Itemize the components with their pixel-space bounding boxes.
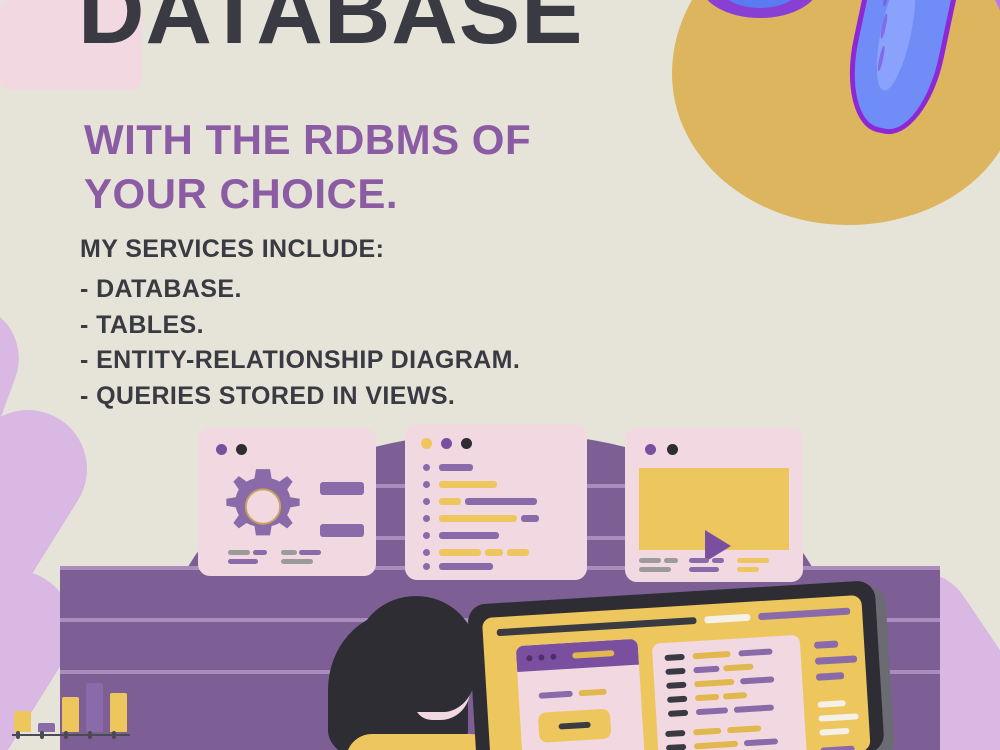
form-label bbox=[539, 691, 573, 699]
line-number bbox=[668, 710, 688, 717]
side-list-item bbox=[818, 713, 858, 721]
line-number bbox=[666, 744, 686, 750]
axis-tick bbox=[88, 731, 92, 739]
line-number bbox=[667, 696, 687, 703]
services-list: - DATABASE. - TABLES. - ENTITY-RELATIONS… bbox=[80, 272, 520, 414]
code-token bbox=[692, 651, 730, 659]
laptop-screen[interactable] bbox=[482, 595, 871, 750]
footer-line bbox=[639, 558, 661, 563]
window-dot-dark bbox=[667, 444, 678, 455]
axis-tick bbox=[40, 731, 44, 739]
leg-crease bbox=[882, 0, 891, 7]
code-line bbox=[521, 515, 539, 522]
leg-crease bbox=[879, 13, 888, 39]
form-label bbox=[578, 689, 606, 697]
video-window-card[interactable] bbox=[625, 428, 803, 582]
code-panel[interactable] bbox=[652, 635, 807, 750]
side-list-item bbox=[820, 746, 854, 750]
chart-bar bbox=[110, 693, 127, 732]
toolbar-line bbox=[704, 614, 750, 624]
code-window-card[interactable] bbox=[405, 424, 587, 580]
list-item: - DATABASE. bbox=[80, 272, 520, 308]
settings-window-card[interactable] bbox=[198, 428, 376, 576]
submit-button[interactable] bbox=[538, 708, 612, 742]
submit-button-label bbox=[558, 722, 590, 730]
page-subtitle: WITH THE RDBMS OF YOUR CHOICE. bbox=[84, 113, 531, 221]
window-dot-dark bbox=[236, 444, 247, 455]
code-token bbox=[738, 648, 772, 656]
purple-cape-shape bbox=[779, 0, 1000, 64]
chart-bar bbox=[86, 683, 103, 732]
toolbar-line bbox=[497, 617, 697, 636]
gear-icon bbox=[224, 466, 302, 544]
list-item: - TABLES. bbox=[80, 308, 520, 344]
services-heading: MY SERVICES INCLUDE: bbox=[80, 235, 384, 264]
list-item: - ENTITY-RELATIONSHIP DIAGRAM. bbox=[80, 343, 520, 379]
blue-leg-shape bbox=[836, 0, 967, 142]
window-dot-purple bbox=[441, 438, 452, 449]
gold-blob-shape bbox=[672, 0, 1000, 225]
code-token bbox=[695, 694, 719, 701]
code-token bbox=[744, 738, 778, 746]
axis-tick bbox=[112, 731, 116, 739]
blue-dot-shape bbox=[718, 0, 802, 8]
code-line bbox=[507, 549, 529, 556]
footer-line bbox=[299, 550, 321, 555]
leg-highlight bbox=[869, 0, 923, 94]
code-token bbox=[723, 664, 753, 672]
laptop[interactable] bbox=[467, 579, 897, 750]
flyer-canvas: DATABASE WITH THE RDBMS OF YOUR CHOICE. … bbox=[0, 0, 1000, 750]
toolbar-line bbox=[758, 608, 850, 621]
code-line bbox=[439, 549, 481, 556]
chart-bar bbox=[62, 697, 79, 732]
code-token bbox=[693, 728, 721, 736]
line-number bbox=[666, 682, 686, 689]
footer-line bbox=[281, 550, 297, 555]
setting-row-bar bbox=[320, 482, 364, 495]
footer-line bbox=[228, 559, 258, 564]
subtitle-line-1: WITH THE RDBMS OF bbox=[84, 113, 531, 167]
side-list-item bbox=[814, 640, 838, 648]
code-line bbox=[439, 498, 461, 505]
footer-line bbox=[228, 550, 250, 555]
code-line bbox=[439, 515, 517, 522]
window-dot-purple bbox=[216, 444, 227, 455]
code-token bbox=[740, 676, 774, 684]
code-line bbox=[439, 464, 473, 471]
code-token bbox=[694, 679, 734, 687]
line-number bbox=[664, 654, 684, 661]
chart-bar bbox=[14, 711, 31, 732]
chart-plot-area bbox=[12, 676, 130, 732]
code-line bbox=[439, 532, 499, 539]
code-line bbox=[465, 498, 537, 505]
footer-line bbox=[689, 558, 709, 563]
window-dot-purple bbox=[645, 444, 656, 455]
window-dot-yellow bbox=[421, 438, 432, 449]
form-card[interactable] bbox=[516, 639, 646, 750]
code-line bbox=[439, 481, 497, 488]
purple-dot-shape bbox=[700, 0, 820, 18]
setting-row-bar bbox=[320, 524, 364, 537]
side-list-item bbox=[819, 728, 849, 736]
video-screen[interactable] bbox=[639, 468, 789, 550]
footer-line bbox=[712, 558, 724, 563]
footer-line bbox=[639, 567, 671, 572]
code-line bbox=[485, 549, 503, 556]
hair-front bbox=[356, 596, 476, 712]
code-token bbox=[693, 666, 719, 674]
code-token bbox=[694, 741, 738, 750]
line-number bbox=[665, 668, 685, 675]
subtitle-line-2: YOUR CHOICE. bbox=[84, 167, 531, 221]
code-token bbox=[723, 692, 747, 699]
axis-tick bbox=[64, 731, 68, 739]
line-number bbox=[665, 730, 685, 737]
side-list-item bbox=[816, 672, 844, 681]
footer-line bbox=[664, 558, 678, 563]
page-title: DATABASE bbox=[78, 0, 583, 58]
side-list-item bbox=[815, 655, 857, 665]
code-line bbox=[439, 563, 493, 570]
footer-line bbox=[737, 567, 759, 572]
window-dot-dark bbox=[461, 438, 472, 449]
footer-line bbox=[689, 567, 719, 572]
form-card-titlebar bbox=[516, 639, 639, 672]
list-item: - QUERIES STORED IN VIEWS. bbox=[80, 379, 520, 415]
footer-line bbox=[737, 558, 769, 563]
axis-tick bbox=[16, 731, 20, 739]
side-list-item bbox=[818, 700, 846, 708]
form-card-title bbox=[572, 650, 614, 659]
code-token bbox=[734, 704, 774, 712]
code-token bbox=[696, 707, 728, 715]
code-token bbox=[727, 725, 761, 733]
footer-line bbox=[253, 550, 267, 555]
footer-line bbox=[281, 559, 313, 564]
leg-crease bbox=[877, 45, 886, 71]
shirt bbox=[346, 734, 496, 750]
lavender-leaf-left-3 bbox=[0, 288, 34, 532]
